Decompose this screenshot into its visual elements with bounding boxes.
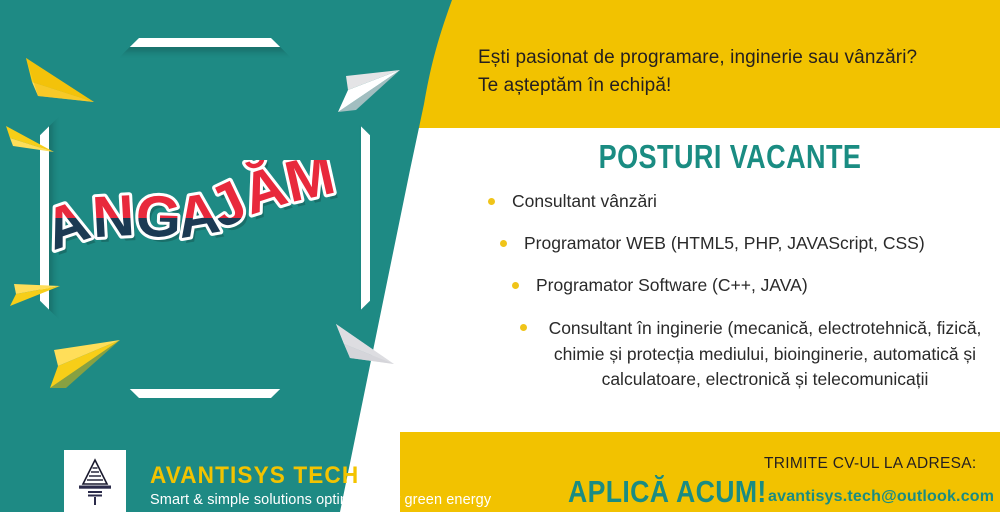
- cone-burst-icon: [2, 122, 56, 156]
- company-logo: [64, 450, 126, 512]
- cv-label: TRIMITE CV-UL LA ADRESA:: [764, 455, 976, 473]
- brand-name: AVANTISYS TECH: [150, 462, 471, 490]
- intro-text: Ești pasionat de programare, inginerie s…: [478, 44, 978, 99]
- recruitment-poster: ANGAJĂM ANGAJĂM ANGAJĂM ANGAJĂM Ești pas…: [0, 0, 1000, 512]
- intro-line-2: Te așteptăm în echipă!: [478, 72, 978, 100]
- job-label: Consultant în inginerie (mecanică, elect…: [470, 316, 1000, 392]
- list-item: Programator WEB (HTML5, PHP, JAVAScript,…: [470, 232, 1000, 255]
- list-item: Consultant vânzări: [470, 190, 1000, 213]
- brand-tagline: Smart & simple solutions optimized for g…: [150, 492, 491, 508]
- list-item: Consultant în inginerie (mecanică, elect…: [470, 316, 1000, 392]
- apply-cta: APLICĂ ACUM!: [568, 474, 767, 510]
- cone-burst-icon: [40, 336, 124, 398]
- brand-block: AVANTISYS TECH Smart & simple solutions …: [150, 462, 491, 508]
- cone-burst-icon: [334, 62, 404, 118]
- job-label: Programator Software (C++, JAVA): [470, 274, 1000, 297]
- list-item: Programator Software (C++, JAVA): [470, 274, 1000, 297]
- intro-line-1: Ești pasionat de programare, inginerie s…: [478, 44, 978, 72]
- job-list: Consultant vânzări Programator WEB (HTML…: [470, 190, 1000, 411]
- cone-burst-icon: [4, 278, 64, 314]
- job-label: Programator WEB (HTML5, PHP, JAVAScript,…: [470, 232, 1000, 255]
- antenna-tower-icon: [73, 456, 117, 506]
- cv-email[interactable]: avantisys.tech@outlook.com: [768, 488, 994, 506]
- job-label: Consultant vânzări: [470, 190, 1000, 213]
- angajam-wordmark: ANGAJĂM ANGAJĂM ANGAJĂM ANGAJĂM: [48, 160, 388, 280]
- cone-burst-icon: [332, 318, 398, 368]
- page-title: POSTURI VACANTE: [525, 138, 935, 176]
- cone-burst-icon: [18, 52, 98, 110]
- bullet-icon: [488, 198, 495, 205]
